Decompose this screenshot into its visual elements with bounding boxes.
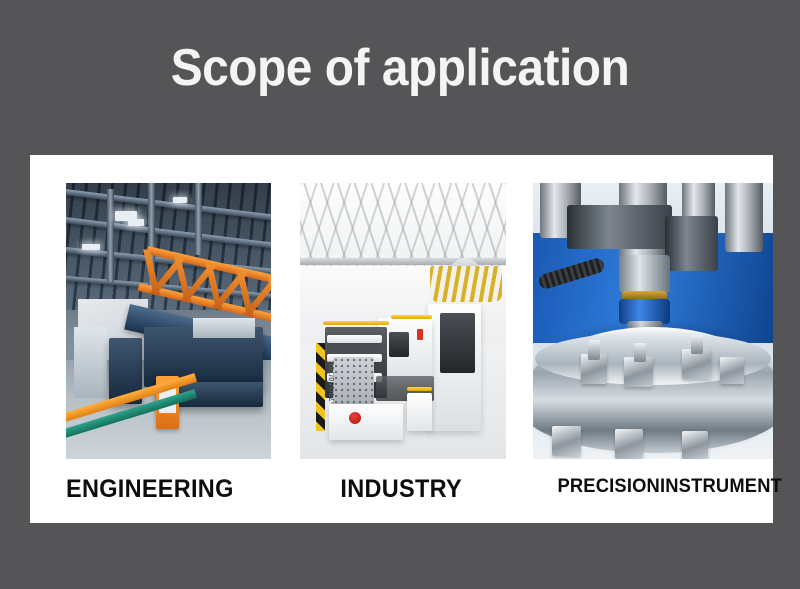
precision-spindle-image [533, 183, 773, 459]
thumbnail-industry[interactable]: CD-70/100/70C [300, 183, 506, 459]
page-title: Scope of application [32, 38, 768, 98]
caption-precision-instrument: PRECISIONINSTRUMENT [533, 475, 759, 498]
slide-root: Scope of application [0, 0, 800, 589]
blue-bearing-ring [619, 299, 669, 324]
application-item-industry[interactable]: CD-70/100/70C INDUSTRY [300, 183, 535, 504]
thumbnail-engineering[interactable] [66, 183, 271, 459]
caption-industry: INDUSTRY [300, 475, 521, 504]
caption-engineering: ENGINEERING [66, 475, 281, 504]
factory-hall-image [66, 183, 271, 459]
application-item-precision-instrument[interactable]: PRECISIONINSTRUMENT [533, 183, 773, 498]
application-item-engineering[interactable]: ENGINEERING [66, 183, 295, 504]
application-grid: ENGINEERING [30, 155, 773, 523]
content-card: ENGINEERING [30, 155, 773, 523]
thumbnail-precision-instrument[interactable] [533, 183, 773, 459]
cnc-hall-image: CD-70/100/70C [300, 183, 506, 459]
